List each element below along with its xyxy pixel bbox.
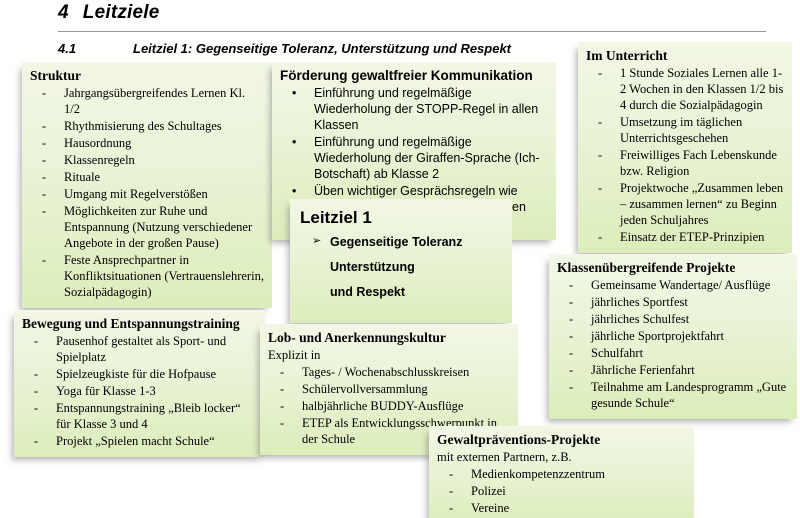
list-item-text: Möglichkeiten zur Ruhe und Entspannung (… bbox=[64, 204, 252, 250]
bullet-marker-icon: - bbox=[34, 383, 38, 399]
list-item-text: Schülervollversammlung bbox=[302, 382, 428, 396]
bullet-marker-icon: - bbox=[42, 118, 46, 134]
bullet-marker-icon: - bbox=[598, 229, 602, 245]
list-item: -Schülervollversammlung bbox=[268, 381, 510, 397]
list-item: -halbjährliche BUDDY-Ausflüge bbox=[268, 398, 510, 414]
card-subtitle: mit externen Partnern, z.B. bbox=[437, 449, 686, 465]
bullet-marker-icon: • bbox=[292, 85, 296, 101]
page-title: 4Leitziele bbox=[58, 2, 768, 24]
arrow-bullet-icon: ➢ bbox=[312, 234, 321, 248]
card-subtitle: Explizit in bbox=[268, 347, 510, 363]
bullet-marker-icon: - bbox=[280, 381, 284, 397]
leitziel-title: Leitziel 1 bbox=[300, 207, 502, 229]
list-item: -Vereine bbox=[437, 500, 686, 516]
list-item: -Klassenregeln bbox=[30, 152, 264, 168]
list-item-text: Rhythmisierung des Schultages bbox=[64, 119, 222, 133]
bullet-marker-icon: - bbox=[569, 328, 573, 344]
list-item: -Pausenhof gestaltet als Sport- und Spie… bbox=[22, 333, 257, 365]
list-item: -jährliche Sportprojektfahrt bbox=[557, 328, 789, 344]
list-item-text: Jährliche Ferienfahrt bbox=[591, 363, 695, 377]
section-heading: 4.1Leitziel 1: Gegenseitige Toleranz, Un… bbox=[58, 41, 511, 56]
heading1-text: Leitziele bbox=[83, 2, 160, 23]
list-item-text: Teilnahme am Landesprogramm „Gute gesund… bbox=[591, 380, 786, 410]
list-item: -Teilnahme am Landesprogramm „Gute gesun… bbox=[557, 379, 789, 411]
card-title: Lob- und Anerkennungskultur bbox=[268, 329, 510, 346]
bullet-marker-icon: - bbox=[42, 203, 46, 219]
card-gewaltpraeventions-projekte: Gewaltpräventions-Projekte mit externen … bbox=[429, 426, 694, 518]
card-item-list: -Jahrgangsübergreifendes Lernen Kl. 1/2 … bbox=[30, 85, 264, 300]
list-item: -Rituale bbox=[30, 169, 264, 185]
list-item-text: Projektwoche „Zusammen leben – zusammen … bbox=[620, 181, 783, 227]
list-item-text: Einführung und regelmäßige Wiederholung … bbox=[314, 86, 538, 132]
card-title: Förderung gewaltfreier Kommunikation bbox=[280, 67, 548, 84]
list-item-text: Spielzeugkiste für die Hofpause bbox=[56, 367, 216, 381]
bullet-marker-icon: - bbox=[34, 333, 38, 349]
list-item: -Spielzeugkiste für die Hofpause bbox=[22, 366, 257, 382]
bullet-marker-icon: - bbox=[42, 169, 46, 185]
bullet-marker-icon: • bbox=[292, 183, 296, 199]
list-item: -Entspannungstraining „Bleib locker“ für… bbox=[22, 400, 257, 432]
bullet-marker-icon: - bbox=[569, 362, 573, 378]
list-item-text: Einführung und regelmäßige Wiederholung … bbox=[314, 135, 540, 181]
bullet-marker-icon: - bbox=[34, 400, 38, 416]
list-item-text: Gemeinsame Wandertage/ Ausflüge bbox=[591, 278, 770, 292]
card-struktur: Struktur -Jahrgangsübergreifendes Lernen… bbox=[22, 62, 272, 308]
list-item: -Möglichkeiten zur Ruhe und Entspannung … bbox=[30, 203, 264, 251]
list-item: -Jahrgangsübergreifendes Lernen Kl. 1/2 bbox=[30, 85, 264, 117]
list-item: -Projektwoche „Zusammen leben – zusammen… bbox=[586, 180, 784, 228]
heading2-text: Leitziel 1: Gegenseitige Toleranz, Unter… bbox=[133, 41, 511, 56]
bullet-marker-icon: - bbox=[598, 147, 602, 163]
list-item-text: Umsetzung im täglichen Unterrichtsgesche… bbox=[620, 115, 742, 145]
list-item-text: 1 Stunde Soziales Lernen alle 1-2 Wochen… bbox=[620, 66, 783, 112]
bullet-marker-icon: - bbox=[569, 345, 573, 361]
bullet-marker-icon: - bbox=[569, 311, 573, 327]
list-item: -Polizei bbox=[437, 483, 686, 499]
leitziel-line: ➢Gegenseitige Toleranz bbox=[300, 234, 502, 250]
leitziel-line-list: ➢Gegenseitige Toleranz Unterstützung und… bbox=[300, 234, 502, 300]
heading-rule bbox=[58, 31, 766, 32]
card-title: Klassenübergreifende Projekte bbox=[557, 259, 789, 276]
list-item: -1 Stunde Soziales Lernen alle 1-2 Woche… bbox=[586, 65, 784, 113]
bullet-marker-icon: - bbox=[569, 379, 573, 395]
bullet-marker-icon: - bbox=[280, 398, 284, 414]
list-item: •Einführung und regelmäßige Wiederholung… bbox=[280, 85, 548, 133]
list-item-text: Schulfahrt bbox=[591, 346, 643, 360]
list-item: -Tages- / Wochenabschlusskreisen bbox=[268, 364, 510, 380]
list-item-text: Vereine bbox=[471, 501, 509, 515]
list-item: -Medienkompetenzzentrum bbox=[437, 466, 686, 482]
list-item: -Einsatz der ETEP-Prinzipien bbox=[586, 229, 784, 245]
leitziel-line-text: Gegenseitige Toleranz bbox=[330, 235, 462, 249]
list-item: -Projekt „Spielen macht Schule“ bbox=[22, 433, 257, 449]
bullet-marker-icon: - bbox=[449, 500, 453, 516]
heading1-number: 4 bbox=[58, 2, 69, 23]
card-item-list: -1 Stunde Soziales Lernen alle 1-2 Woche… bbox=[586, 65, 784, 245]
bullet-marker-icon: - bbox=[42, 252, 46, 268]
card-item-list: -Pausenhof gestaltet als Sport- und Spie… bbox=[22, 333, 257, 449]
document-page: 4Leitziele 4.1Leitziel 1: Gegenseitige T… bbox=[0, 0, 800, 518]
bullet-marker-icon: - bbox=[449, 483, 453, 499]
heading2-number: 4.1 bbox=[58, 41, 133, 56]
card-title: Gewaltpräventions-Projekte bbox=[437, 431, 686, 448]
list-item-text: jährliches Sportfest bbox=[591, 295, 688, 309]
bullet-marker-icon: - bbox=[42, 152, 46, 168]
bullet-marker-icon: - bbox=[598, 65, 602, 81]
list-item-text: Klassenregeln bbox=[64, 153, 135, 167]
leitziel-line: Unterstützung bbox=[300, 259, 502, 275]
card-title: Bewegung und Entspannungstraining bbox=[22, 315, 257, 332]
card-item-list: -Medienkompetenzzentrum -Polizei -Verein… bbox=[437, 466, 686, 516]
list-item: -Jährliche Ferienfahrt bbox=[557, 362, 789, 378]
card-title: Struktur bbox=[30, 67, 264, 84]
leitziel-line: und Respekt bbox=[300, 284, 502, 300]
list-item-text: Rituale bbox=[64, 170, 100, 184]
bullet-marker-icon: - bbox=[598, 114, 602, 130]
list-item: -Schulfahrt bbox=[557, 345, 789, 361]
list-item: -Yoga für Klasse 1-3 bbox=[22, 383, 257, 399]
bullet-marker-icon: - bbox=[569, 277, 573, 293]
card-item-list: -Gemeinsame Wandertage/ Ausflüge -jährli… bbox=[557, 277, 789, 411]
list-item: -jährliches Sportfest bbox=[557, 294, 789, 310]
list-item-text: Einsatz der ETEP-Prinzipien bbox=[620, 230, 764, 244]
card-im-unterricht: Im Unterricht -1 Stunde Soziales Lernen … bbox=[578, 42, 792, 253]
list-item: -Freiwilliges Fach Lebenskunde bzw. Reli… bbox=[586, 147, 784, 179]
leitziel-line-text: und Respekt bbox=[330, 285, 405, 299]
list-item-text: Feste Ansprechpartner in Konfliktsituati… bbox=[64, 253, 264, 299]
bullet-marker-icon: - bbox=[280, 364, 284, 380]
bullet-marker-icon: - bbox=[34, 433, 38, 449]
bullet-marker-icon: • bbox=[292, 134, 296, 150]
list-item-text: halbjährliche BUDDY-Ausflüge bbox=[302, 399, 463, 413]
card-klassenuebergreifende-projekte: Klassenübergreifende Projekte -Gemeinsam… bbox=[549, 254, 797, 419]
list-item-text: Entspannungstraining „Bleib locker“ für … bbox=[56, 401, 241, 431]
card-leitziel-1: Leitziel 1 ➢Gegenseitige Toleranz Unters… bbox=[290, 199, 512, 323]
bullet-marker-icon: - bbox=[280, 415, 284, 431]
bullet-marker-icon: - bbox=[449, 466, 453, 482]
bullet-marker-icon: - bbox=[598, 180, 602, 196]
list-item-text: Polizei bbox=[471, 484, 506, 498]
list-item-text: jährliche Sportprojektfahrt bbox=[591, 329, 724, 343]
list-item-text: Medienkompetenzzentrum bbox=[471, 467, 605, 481]
list-item: -Umsetzung im täglichen Unterrichtsgesch… bbox=[586, 114, 784, 146]
list-item: -jährliches Schulfest bbox=[557, 311, 789, 327]
bullet-marker-icon: - bbox=[42, 85, 46, 101]
list-item-text: Hausordnung bbox=[64, 136, 131, 150]
list-item-text: jährliches Schulfest bbox=[591, 312, 689, 326]
leitziel-line-text: Unterstützung bbox=[330, 260, 415, 274]
list-item-text: Umgang mit Regelverstößen bbox=[64, 187, 208, 201]
list-item-text: Yoga für Klasse 1-3 bbox=[56, 384, 156, 398]
bullet-marker-icon: - bbox=[42, 135, 46, 151]
list-item-text: Jahrgangsübergreifendes Lernen Kl. 1/2 bbox=[64, 86, 245, 116]
list-item: -Umgang mit Regelverstößen bbox=[30, 186, 264, 202]
list-item-text: Freiwilliges Fach Lebenskunde bzw. Relig… bbox=[620, 148, 777, 178]
list-item: -Rhythmisierung des Schultages bbox=[30, 118, 264, 134]
card-bewegung-und-entspannungstraining: Bewegung und Entspannungstraining -Pause… bbox=[14, 310, 265, 457]
card-title: Im Unterricht bbox=[586, 47, 784, 64]
list-item: -Hausordnung bbox=[30, 135, 264, 151]
bullet-marker-icon: - bbox=[42, 186, 46, 202]
bullet-marker-icon: - bbox=[569, 294, 573, 310]
list-item: -Gemeinsame Wandertage/ Ausflüge bbox=[557, 277, 789, 293]
list-item: -Feste Ansprechpartner in Konfliktsituat… bbox=[30, 252, 264, 300]
list-item-text: Pausenhof gestaltet als Sport- und Spiel… bbox=[56, 334, 226, 364]
list-item: •Einführung und regelmäßige Wiederholung… bbox=[280, 134, 548, 182]
list-item-text: Tages- / Wochenabschlusskreisen bbox=[302, 365, 469, 379]
list-item-text: Projekt „Spielen macht Schule“ bbox=[56, 434, 215, 448]
bullet-marker-icon: - bbox=[34, 366, 38, 382]
